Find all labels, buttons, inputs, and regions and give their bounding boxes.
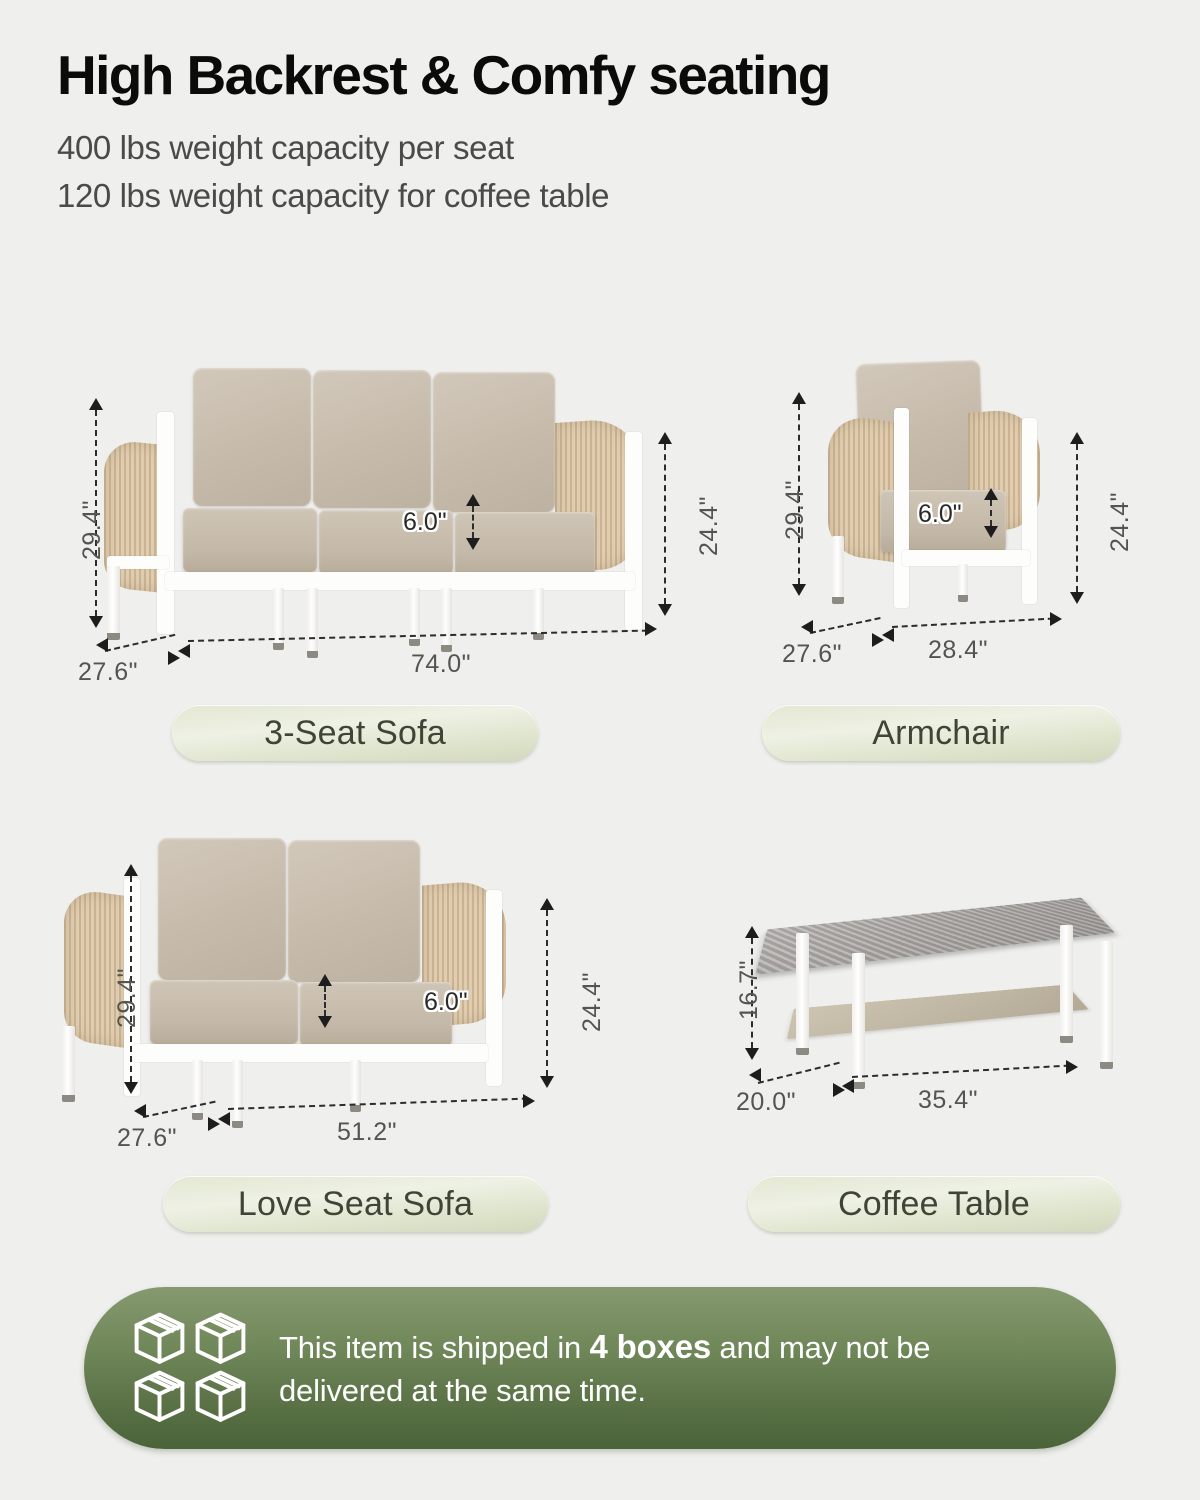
table-leg	[796, 933, 809, 1055]
frame-post-right	[486, 890, 502, 1086]
label-pill-love-seat-sofa[interactable]: Love Seat Sofa	[163, 1176, 548, 1232]
dimension-height-label: 16.7"	[735, 960, 764, 1020]
dimension-depth-label: 27.6"	[117, 1124, 177, 1153]
love-seat-illustration	[150, 830, 570, 1100]
sofa-leg	[232, 1060, 243, 1128]
dimension-depth-label: 20.0"	[736, 1088, 796, 1117]
box-icon	[190, 1368, 251, 1426]
label-pill-text: Coffee Table	[838, 1185, 1030, 1224]
infographic-page: High Backrest & Comfy seating 400 lbs we…	[0, 0, 1200, 1500]
product-coffee-table: 16.7" 20.0" 35.4" Coffee Table	[700, 440, 1200, 1230]
dimension-width-label: 35.4"	[918, 1086, 978, 1115]
dimension-seat-back-label: 24.4"	[578, 972, 607, 1032]
shipping-line-2: delivered at the same time.	[279, 1370, 930, 1413]
shipping-text-after: and may not be	[711, 1330, 930, 1365]
table-lower-shelf	[787, 985, 1089, 1039]
table-leg	[1060, 925, 1073, 1043]
table-leg	[1100, 941, 1113, 1069]
dimension-cushion-label: 6.0"	[424, 988, 468, 1017]
box-icon	[129, 1310, 190, 1368]
sofa-leg	[192, 1060, 203, 1120]
shipping-line-1: This item is shipped in 4 boxes and may …	[279, 1324, 930, 1370]
back-cushion	[288, 840, 420, 982]
shipping-banner-text: This item is shipped in 4 boxes and may …	[279, 1324, 930, 1413]
box-icon	[129, 1368, 190, 1426]
dimension-height-label: 29.4"	[113, 968, 142, 1028]
product-love-seat-sofa: 29.4" 24.4" 6.0" 27.6" 51.2"	[0, 440, 700, 1230]
seat-cushion	[150, 980, 298, 1044]
shipping-box-count: 4 boxes	[590, 1328, 712, 1365]
label-pill-text: Love Seat Sofa	[238, 1185, 473, 1224]
shipping-box-icons	[129, 1310, 251, 1426]
shipping-text-before: This item is shipped in	[279, 1330, 590, 1365]
table-leg	[852, 953, 865, 1089]
shipping-banner: This item is shipped in 4 boxes and may …	[84, 1287, 1116, 1449]
sofa-leg	[62, 1026, 75, 1102]
box-icon	[190, 1310, 251, 1368]
back-cushion	[158, 838, 286, 980]
frame-rail-front	[132, 1044, 488, 1062]
dimension-width-label: 51.2"	[337, 1118, 397, 1147]
coffee-table-illustration	[760, 895, 1160, 1095]
label-pill-coffee-table[interactable]: Coffee Table	[748, 1176, 1120, 1232]
